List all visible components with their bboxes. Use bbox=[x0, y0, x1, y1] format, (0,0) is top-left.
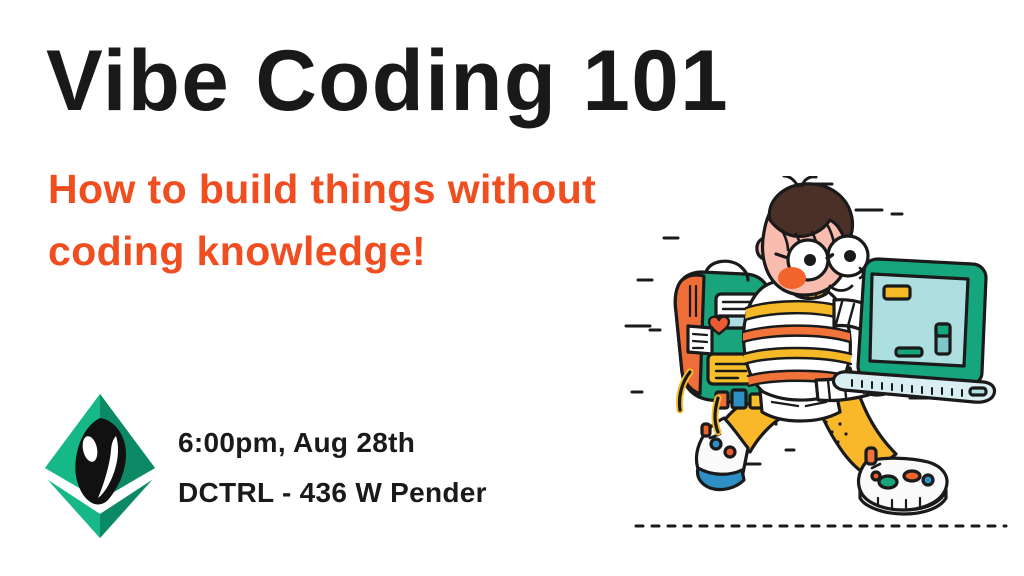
event-venue: DCTRL - 436 W Pender bbox=[178, 468, 487, 518]
front-shoe bbox=[859, 448, 948, 514]
event-poster: Vibe Coding 101 How to build things with… bbox=[0, 0, 1024, 576]
dctrl-orca-diamond-logo bbox=[42, 392, 158, 540]
head bbox=[757, 176, 868, 295]
page-title: Vibe Coding 101 bbox=[46, 38, 729, 124]
laptop bbox=[833, 259, 994, 402]
boy-walking-with-laptop-illustration bbox=[620, 176, 1024, 544]
event-details: 6:00pm, Aug 28th DCTRL - 436 W Pender bbox=[178, 418, 487, 518]
event-time: 6:00pm, Aug 28th bbox=[178, 418, 487, 468]
